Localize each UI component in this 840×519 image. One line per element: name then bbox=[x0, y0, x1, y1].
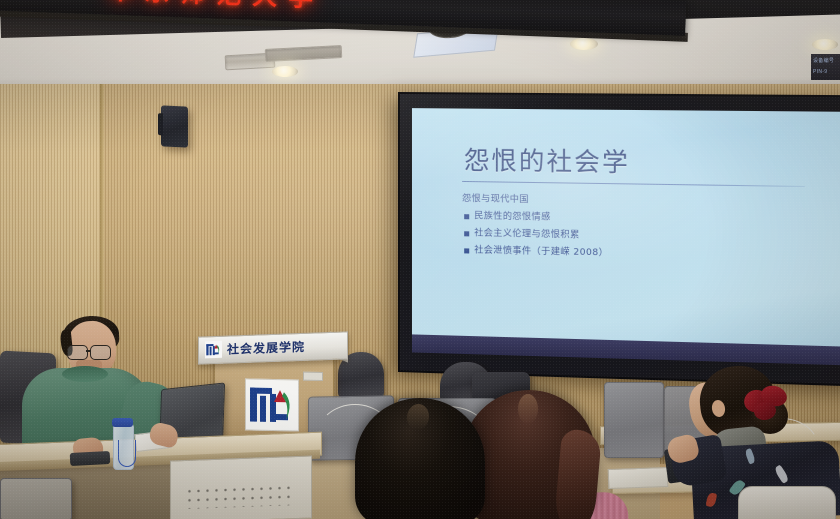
ceiling-downlight bbox=[812, 39, 838, 50]
school-logo-small-mark bbox=[205, 341, 222, 359]
glasses-lens-right bbox=[90, 345, 111, 360]
papers bbox=[608, 467, 669, 489]
lectern-sign: 社会发展学院 bbox=[198, 331, 348, 364]
slide-title-rule bbox=[462, 181, 805, 187]
water-bottle-cap bbox=[112, 418, 133, 427]
lectern-plate bbox=[303, 372, 323, 381]
school-logo-small bbox=[205, 341, 222, 359]
presenter-collar bbox=[62, 366, 108, 382]
chair bbox=[0, 478, 72, 519]
notice-line-1: 设备编号 bbox=[811, 54, 840, 65]
projection-screen: 怨恨的社会学 怨恨与现代中国 民族性的怨恨情感 社会主义伦理与怨恨积累 社会泄愤… bbox=[398, 92, 840, 387]
desk-modesty-panel bbox=[170, 456, 312, 519]
slide-body: 怨恨与现代中国 民族性的怨恨情感 社会主义伦理与怨恨积累 社会泄愤事件（于建嵘 … bbox=[462, 191, 815, 267]
ceiling-downlight bbox=[570, 38, 598, 50]
hair-part bbox=[518, 394, 538, 424]
school-logo bbox=[245, 378, 299, 431]
equipment-notice-label: 设备编号 PIN-9 bbox=[811, 54, 840, 80]
chair bbox=[738, 486, 836, 519]
glasses-bridge bbox=[86, 350, 91, 352]
chair bbox=[604, 382, 664, 458]
phone bbox=[70, 451, 111, 466]
lectern-sign-text: 社会发展学院 bbox=[227, 338, 305, 358]
desk-panel-perforation bbox=[185, 483, 295, 509]
glasses-lens-left bbox=[67, 345, 88, 360]
hair-strand bbox=[554, 428, 602, 519]
hair-part bbox=[405, 403, 430, 432]
jacket-pattern bbox=[773, 464, 790, 483]
jacket-pattern bbox=[744, 448, 756, 465]
led-banner-text: 华东师范大学 bbox=[108, 0, 325, 15]
audience-head-left bbox=[355, 398, 485, 519]
projected-slide: 怨恨的社会学 怨恨与现代中国 民族性的怨恨情感 社会主义伦理与怨恨积累 社会泄愤… bbox=[412, 108, 840, 347]
lecture-hall-photo: 华东师范大学 设备编号 PIN-9 怨恨的社会学 怨恨与现代中国 民族性的怨恨情… bbox=[0, 0, 840, 519]
school-logo-mark bbox=[246, 379, 298, 430]
slide-title: 怨恨的社会学 bbox=[464, 141, 630, 180]
water-bottle-strap bbox=[118, 440, 136, 467]
ceiling-downlight bbox=[272, 66, 298, 77]
notice-line-2: PIN-9 bbox=[811, 65, 840, 76]
jacket-pattern bbox=[706, 492, 718, 508]
red-scrunchie bbox=[744, 386, 786, 420]
presenter-glasses bbox=[66, 345, 116, 358]
speaker-bracket bbox=[158, 113, 163, 135]
wall-speaker-icon bbox=[161, 105, 188, 147]
